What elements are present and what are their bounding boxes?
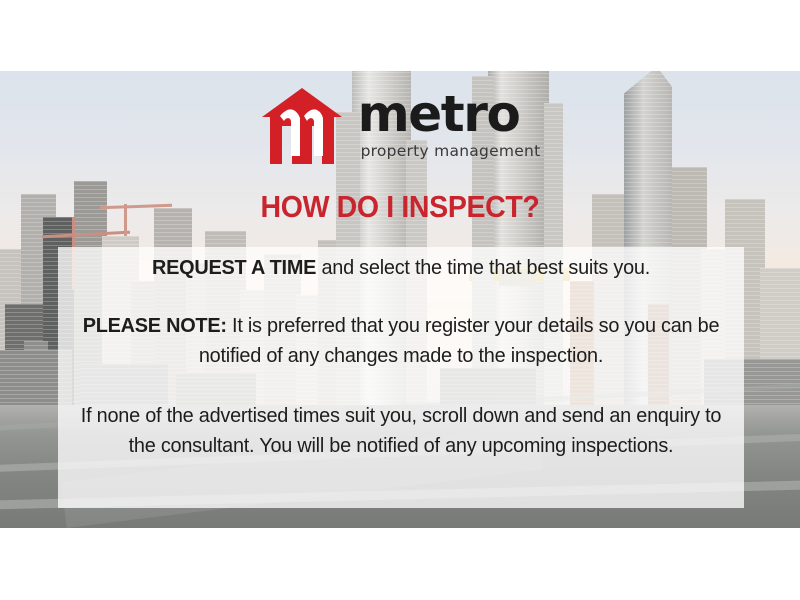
- brand-tagline: property management: [358, 142, 541, 160]
- please-note-emphasis: PLEASE NOTE:: [83, 314, 227, 337]
- request-a-time-emphasis: REQUEST A TIME: [152, 256, 316, 279]
- spacer: [58, 283, 744, 311]
- paragraph-1-rest: and select the time that best suits you.: [316, 256, 650, 279]
- brand-name: metro: [358, 90, 520, 139]
- slide-canvas: metro property management HOW DO I INSPE…: [0, 0, 800, 600]
- paragraph-2-rest: It is preferred that you register your d…: [199, 314, 719, 367]
- page-title: HOW DO I INSPECT?: [32, 191, 768, 224]
- paragraph-please-note: PLEASE NOTE: It is preferred that you re…: [68, 311, 733, 371]
- paragraph-enquiry: If none of the advertised times suit you…: [68, 401, 733, 461]
- brand-wordmark: metro property management: [358, 90, 541, 162]
- brand-logo: metro property management: [0, 86, 800, 166]
- spacer: [58, 371, 744, 401]
- instructions-body: REQUEST A TIME and select the time that …: [58, 253, 744, 461]
- paragraph-request-a-time: REQUEST A TIME and select the time that …: [68, 253, 733, 283]
- metro-house-m-logo-icon: [260, 86, 344, 166]
